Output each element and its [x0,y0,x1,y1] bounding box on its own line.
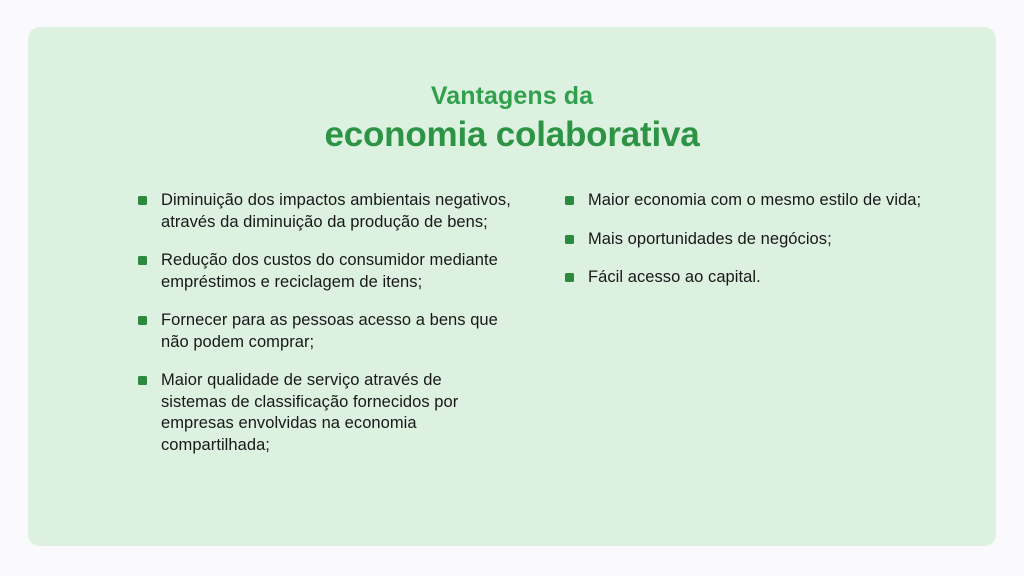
square-bullet-icon [138,316,147,325]
eyebrow-text: Vantagens da [28,82,996,111]
bullet-columns: Diminuição dos impactos ambientais negat… [28,190,996,520]
slide-canvas: Vantagens da economia colaborativa Dimin… [0,0,1024,576]
list-item: Mais oportunidades de negócios; [565,229,935,251]
title-block: Vantagens da economia colaborativa [28,82,996,156]
square-bullet-icon [138,256,147,265]
list-item-label: Fácil acesso ao capital. [588,267,933,289]
bullet-column-right: Maior economia com o mesmo estilo de vid… [565,190,935,306]
square-bullet-icon [138,376,147,385]
list-item: Maior qualidade de serviço através de si… [138,370,528,456]
list-item-label: Maior economia com o mesmo estilo de vid… [588,190,933,212]
square-bullet-icon [565,196,574,205]
list-item: Fácil acesso ao capital. [565,267,935,289]
list-item-label: Fornecer para as pessoas acesso a bens q… [161,310,511,353]
bullet-column-left: Diminuição dos impactos ambientais negat… [138,190,528,473]
list-item-label: Maior qualidade de serviço através de si… [161,370,511,456]
list-item: Fornecer para as pessoas acesso a bens q… [138,310,528,353]
square-bullet-icon [565,273,574,282]
square-bullet-icon [138,196,147,205]
page-title: economia colaborativa [28,114,996,156]
square-bullet-icon [565,235,574,244]
list-item: Diminuição dos impactos ambientais negat… [138,190,528,233]
list-item-label: Redução dos custos do consumidor mediant… [161,250,511,293]
content-card: Vantagens da economia colaborativa Dimin… [28,27,996,546]
list-item: Redução dos custos do consumidor mediant… [138,250,528,293]
list-item-label: Diminuição dos impactos ambientais negat… [161,190,511,233]
list-item: Maior economia com o mesmo estilo de vid… [565,190,935,212]
list-item-label: Mais oportunidades de negócios; [588,229,933,251]
